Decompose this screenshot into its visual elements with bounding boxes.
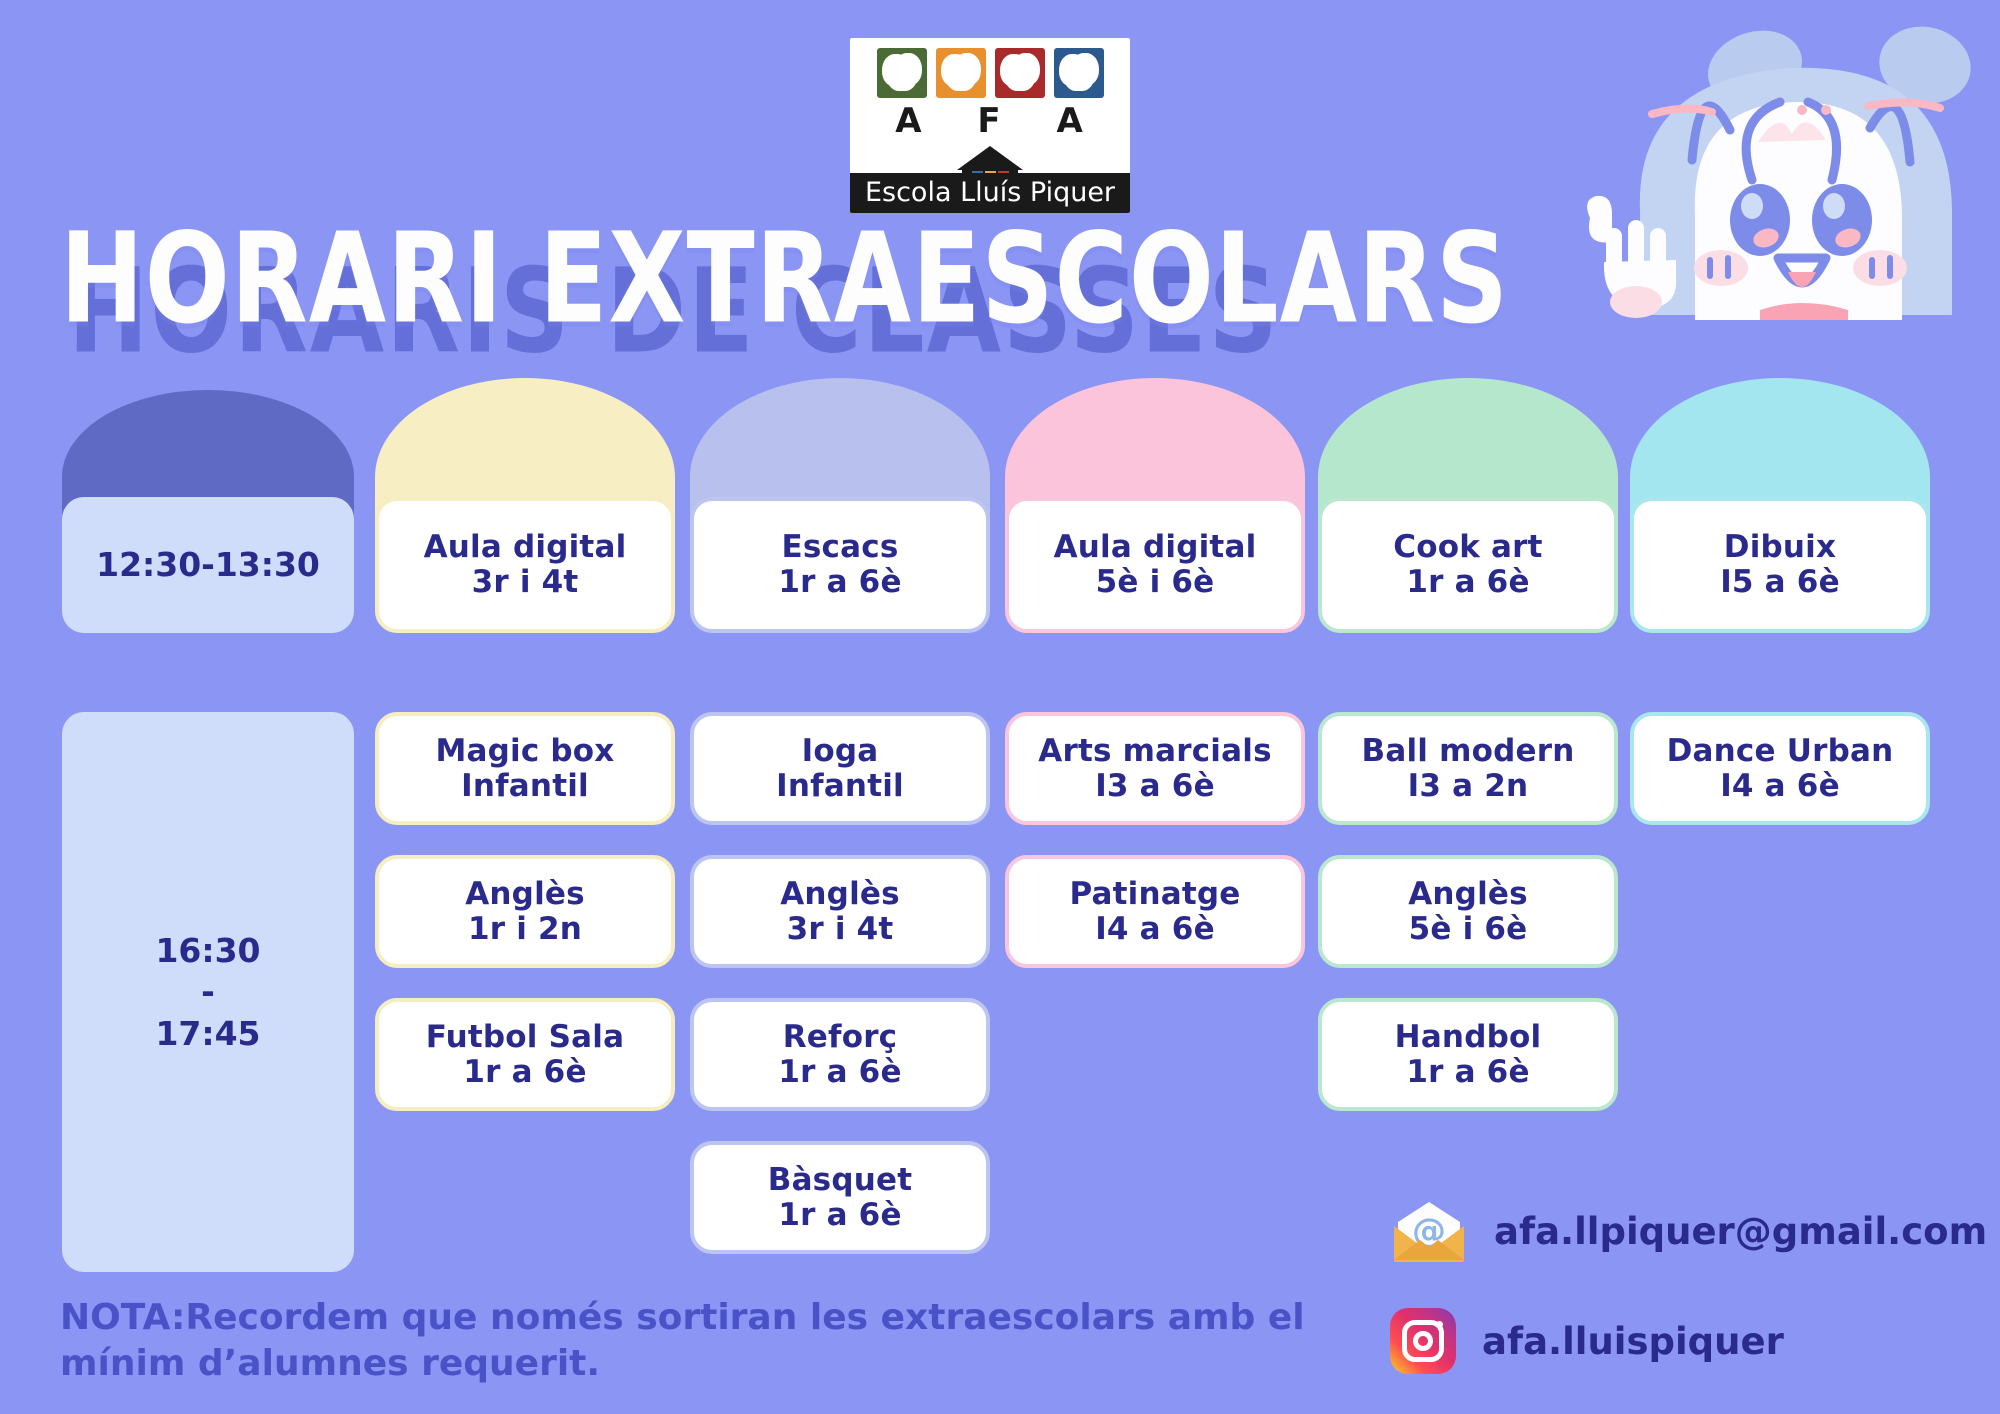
time-cell-12-30: 12:30-13:30 [62, 497, 354, 633]
house-roof-icon [957, 146, 1023, 170]
subject-card-r2g2-c1-label: Reforç1r a 6è [778, 1020, 901, 1089]
subject-card-r2g0-c0[interactable]: Magic boxInfantil [375, 712, 675, 825]
subject-card-r2g0-c2[interactable]: Arts marcialsI3 a 6è [1005, 712, 1305, 825]
time-cell-16-30-label: 16:30-17:45 [155, 930, 260, 1054]
page-title: HORARI EXTRAESCOLARS [60, 205, 1509, 351]
subject-card-r2g1-c0-label: Anglès1r i 2n [465, 877, 585, 946]
subject-card-r2g0-c4-label: Dance UrbanI4 a 6è [1667, 734, 1894, 803]
instagram-handle[interactable]: afa.lluispiquer [1482, 1320, 1784, 1363]
subject-card-r2g2-c0-label: Futbol Sala1r a 6è [426, 1020, 624, 1089]
note-text: NOTA:Recordem que només sortiran les ext… [60, 1295, 1310, 1387]
hand-icon-orange [936, 48, 986, 98]
subject-card-r2g3-c1[interactable]: Bàsquet1r a 6è [690, 1141, 990, 1254]
mascot-illustration [1580, 10, 2000, 320]
hand-icon-red [995, 48, 1045, 98]
instagram-icon [1390, 1308, 1456, 1374]
subject-card-r2g2-c1[interactable]: Reforç1r a 6è [690, 998, 990, 1111]
subject-card-r2g0-c0-label: Magic boxInfantil [435, 734, 614, 803]
subject-card-r1-c3[interactable]: Cook art1r a 6è [1318, 497, 1618, 633]
subject-card-r1-c0-label: Aula digital3r i 4t [424, 530, 627, 599]
subject-card-r2g1-c3[interactable]: Anglès5è i 6è [1318, 855, 1618, 968]
subject-card-r1-c1[interactable]: Escacs1r a 6è [690, 497, 990, 633]
contact-email-row[interactable]: @ afa.llpiquer@gmail.com [1390, 1200, 1987, 1262]
time-cell-12-30-label: 12:30-13:30 [96, 544, 320, 585]
subject-card-r2g0-c4[interactable]: Dance UrbanI4 a 6è [1630, 712, 1930, 825]
subject-card-r1-c0[interactable]: Aula digital3r i 4t [375, 497, 675, 633]
subject-card-r2g1-c2[interactable]: PatinatgeI4 a 6è [1005, 855, 1305, 968]
logo-hand-icons [850, 38, 1130, 98]
subject-card-r2g0-c2-label: Arts marcialsI3 a 6è [1038, 734, 1271, 803]
subject-card-r1-c1-label: Escacs1r a 6è [778, 530, 901, 599]
subject-card-r2g3-c1-label: Bàsquet1r a 6è [768, 1163, 913, 1232]
afa-logo: A F A Escola Lluís Piquer [850, 38, 1130, 213]
poster-title-block: HORARIS DE CLASSES HORARI EXTRAESCOLARS [60, 205, 1560, 325]
subject-card-r2g1-c1[interactable]: Anglès3r i 4t [690, 855, 990, 968]
subject-card-r2g1-c3-label: Anglès5è i 6è [1408, 877, 1528, 946]
email-address[interactable]: afa.llpiquer@gmail.com [1494, 1210, 1987, 1253]
hand-icon-blue [1054, 48, 1104, 98]
subject-card-r2g0-c1-label: IogaInfantil [776, 734, 904, 803]
subject-card-r2g2-c3-label: Handbol1r a 6è [1395, 1020, 1542, 1089]
hand-icon-green [877, 48, 927, 98]
subject-card-r2g0-c3[interactable]: Ball modernI3 a 2n [1318, 712, 1618, 825]
subject-card-r2g2-c3[interactable]: Handbol1r a 6è [1318, 998, 1618, 1111]
subject-card-r2g2-c0[interactable]: Futbol Sala1r a 6è [375, 998, 675, 1111]
subject-card-r2g1-c2-label: PatinatgeI4 a 6è [1069, 877, 1240, 946]
subject-card-r1-c4-label: DibuixI5 a 6è [1720, 530, 1840, 599]
subject-card-r2g0-c3-label: Ball modernI3 a 2n [1362, 734, 1575, 803]
email-icon: @ [1390, 1200, 1468, 1262]
subject-card-r2g0-c1[interactable]: IogaInfantil [690, 712, 990, 825]
subject-card-r1-c2-label: Aula digital5è i 6è [1054, 530, 1257, 599]
subject-card-r2g1-c1-label: Anglès3r i 4t [780, 877, 900, 946]
contact-instagram-row[interactable]: afa.lluispiquer [1390, 1308, 1784, 1374]
subject-card-r1-c3-label: Cook art1r a 6è [1393, 530, 1542, 599]
time-cell-16-30: 16:30-17:45 [62, 712, 354, 1272]
subject-card-r2g1-c0[interactable]: Anglès1r i 2n [375, 855, 675, 968]
subject-card-r1-c2[interactable]: Aula digital5è i 6è [1005, 497, 1305, 633]
subject-card-r1-c4[interactable]: DibuixI5 a 6è [1630, 497, 1930, 633]
logo-acronym: A F A [850, 100, 1130, 142]
